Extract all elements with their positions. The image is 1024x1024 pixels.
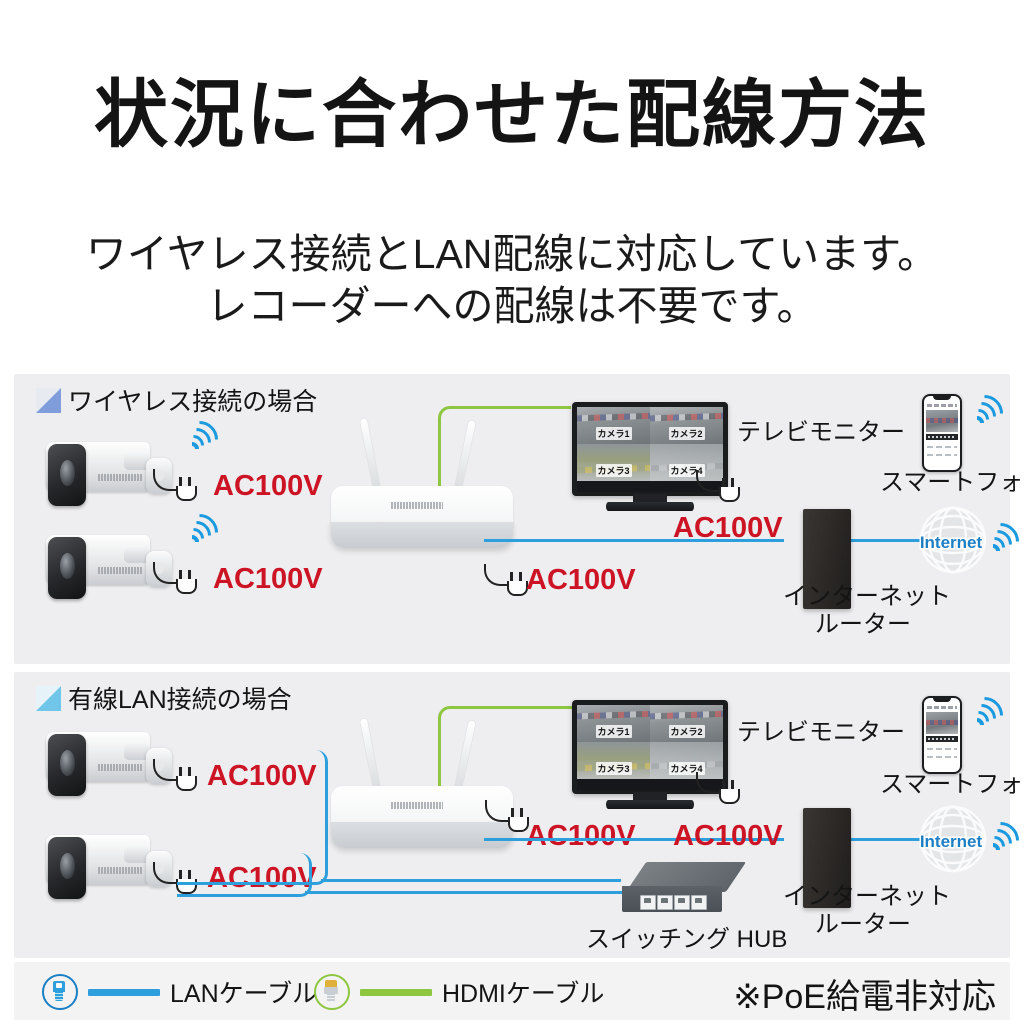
camera-lens: [60, 750, 75, 776]
tv-stand: [606, 502, 694, 511]
page-subtitle: ワイヤレス接続とLAN配線に対応しています。 レコーダーへの配線は不要です。: [0, 228, 1024, 333]
poe-note: ※PoE給電非対応: [733, 969, 996, 1018]
camera-2: [20, 817, 180, 903]
lan-cable-to-hub-run: [321, 879, 621, 882]
page-title: 状況に合わせた配線方法: [0, 78, 1024, 152]
recorder-power-label: AC100V: [526, 820, 636, 853]
recorder-brand-logo: [391, 502, 443, 509]
camera-1: [20, 424, 180, 510]
camera-1-power-label: AC100V: [213, 470, 323, 503]
camera-lens: [60, 853, 75, 879]
router-label-line-2: ルーター: [815, 612, 911, 639]
phone-playback-controls: [926, 434, 958, 440]
wifi-signal-icon: [982, 823, 1016, 853]
antenna-right: [453, 720, 476, 796]
tv-channel-label: カメラ1: [595, 725, 631, 738]
antenna-right: [453, 420, 476, 496]
hub-port-4: [691, 895, 707, 910]
hub-port-1: [640, 895, 656, 910]
panel-wireless-connection: ワイヤレス接続の場合 AC100V AC100V: [14, 374, 1010, 664]
smartphone: [922, 696, 962, 774]
tv-quadrant-1: カメラ1: [577, 407, 650, 444]
tv-monitor: カメラ1 カメラ2 カメラ3 カメラ4: [572, 402, 728, 518]
panel-wireless-title: ワイヤレス接続の場合: [68, 382, 317, 418]
tv-quadrant-1: カメラ1: [577, 705, 650, 742]
tv-quadrant-3: カメラ3: [577, 742, 650, 779]
tv-channel-label: カメラ2: [668, 725, 704, 738]
phone-list-row: [927, 454, 957, 456]
legend-label-lan: LANケーブル: [170, 974, 317, 1010]
hub-port-2: [657, 895, 673, 910]
tv-power-label: AC100V: [673, 512, 783, 545]
tv-power-label: AC100V: [673, 820, 783, 853]
tv-screen: カメラ1 カメラ2 カメラ3 カメラ4: [577, 705, 723, 779]
tv-monitor-label: テレビモニター: [737, 720, 905, 747]
router-label-line-1: インターネット: [783, 584, 951, 611]
phone-app-header: [927, 404, 957, 407]
camera-lens-housing: [48, 837, 86, 899]
recorder-front: [331, 822, 513, 848]
phone-body: [922, 696, 962, 774]
camera-2-power-label: AC100V: [213, 563, 323, 596]
tv-channel-label: カメラ1: [595, 427, 631, 440]
phone-notch: [933, 396, 951, 400]
subtitle-line-1: ワイヤレス接続とLAN配線に対応しています。: [0, 228, 1024, 280]
camera-2: [20, 517, 180, 603]
tv-monitor-label: テレビモニター: [737, 420, 905, 447]
lan-cable-to-hub-run: [305, 891, 625, 894]
recorder-power-label: AC100V: [526, 564, 636, 597]
tv-stand: [606, 800, 694, 809]
tv-channel-label: カメラ2: [668, 427, 704, 440]
smartphone: [922, 394, 962, 472]
tv-quadrant-2: カメラ2: [650, 407, 723, 444]
wifi-signal-icon: [181, 515, 215, 545]
hub-port-3: [674, 895, 690, 910]
lan-cable-camera-2-to-hub: [177, 853, 312, 897]
legend-item-hdmi: HDMIケーブル: [314, 974, 604, 1010]
hdmi-cable-swatch: [360, 989, 432, 996]
legend-bar: LANケーブル HDMIケーブル ※PoE給電非対応: [14, 962, 1010, 1020]
antenna-left: [360, 418, 381, 494]
tv-channel-label: カメラ3: [595, 762, 631, 775]
diagonal-square-marker-icon: [36, 686, 61, 711]
camera-brand-logo: [98, 867, 142, 874]
recorder-brand-logo: [391, 802, 443, 809]
phone-body: [922, 394, 962, 472]
internet-globe-icon: Internet: [919, 805, 987, 873]
tv-channel-label: カメラ3: [595, 464, 631, 477]
recorder-front: [331, 522, 513, 548]
phone-notch: [933, 698, 951, 702]
phone-camera-feed: [926, 712, 958, 734]
wifi-signal-icon: [982, 524, 1016, 554]
wifi-signal-icon: [966, 698, 1000, 728]
wifi-signal-icon: [181, 422, 215, 452]
camera-lens-housing: [48, 444, 86, 506]
router-label-line-1: インターネット: [783, 884, 951, 911]
camera-brand-logo: [98, 474, 142, 481]
hdmi-connector-icon: [314, 974, 350, 1010]
phone-list-row: [927, 446, 957, 448]
camera-lens: [60, 460, 75, 486]
legend-item-lan: LANケーブル: [42, 974, 317, 1010]
power-plug-icon: [171, 562, 201, 596]
antenna-left: [360, 718, 381, 794]
panel-wired-lan-connection: 有線LAN接続の場合 AC100V AC100V: [14, 672, 1010, 958]
phone-list-row: [927, 756, 957, 758]
subtitle-line-2: レコーダーへの配線は不要です。: [0, 280, 1024, 332]
lan-cable-swatch: [88, 989, 160, 996]
phone-camera-feed: [926, 410, 958, 432]
tv-monitor: カメラ1 カメラ2 カメラ3 カメラ4: [572, 700, 728, 816]
router-label-line-2: ルーター: [815, 912, 911, 939]
panel-wired-title: 有線LAN接続の場合: [68, 680, 292, 716]
smartphone-label: スマートフォン: [880, 470, 1024, 497]
smartphone-label: スマートフォン: [880, 772, 1024, 799]
power-plug-icon: [171, 469, 201, 503]
panel-wireless-heading: ワイヤレス接続の場合: [36, 382, 317, 418]
camera-brand-logo: [98, 764, 142, 771]
camera-1: [20, 714, 180, 800]
legend-label-hdmi: HDMIケーブル: [442, 974, 604, 1010]
tv-quadrant-3: カメラ3: [577, 444, 650, 481]
power-plug-icon: [714, 470, 744, 504]
header-section: 状況に合わせた配線方法 ワイヤレス接続とLAN配線に対応しています。 レコーダー…: [0, 0, 1024, 360]
phone-list-row: [927, 748, 957, 750]
switching-hub-label: スイッチング HUB: [586, 927, 787, 954]
wifi-signal-icon: [966, 396, 1000, 426]
tv-quadrant-2: カメラ2: [650, 705, 723, 742]
camera-brand-logo: [98, 567, 142, 574]
panel-wired-heading: 有線LAN接続の場合: [36, 680, 292, 716]
camera-lens-housing: [48, 734, 86, 796]
diagonal-square-marker-icon: [36, 388, 61, 413]
camera-lens: [60, 553, 75, 579]
phone-screen: [924, 698, 960, 772]
phone-screen: [924, 396, 960, 470]
lan-connector-icon: [42, 974, 78, 1010]
phone-playback-controls: [926, 736, 958, 742]
switching-hub: [622, 862, 746, 924]
internet-globe-icon: Internet: [919, 506, 987, 574]
camera-lens-housing: [48, 537, 86, 599]
phone-app-header: [927, 706, 957, 709]
power-plug-icon: [714, 772, 744, 806]
